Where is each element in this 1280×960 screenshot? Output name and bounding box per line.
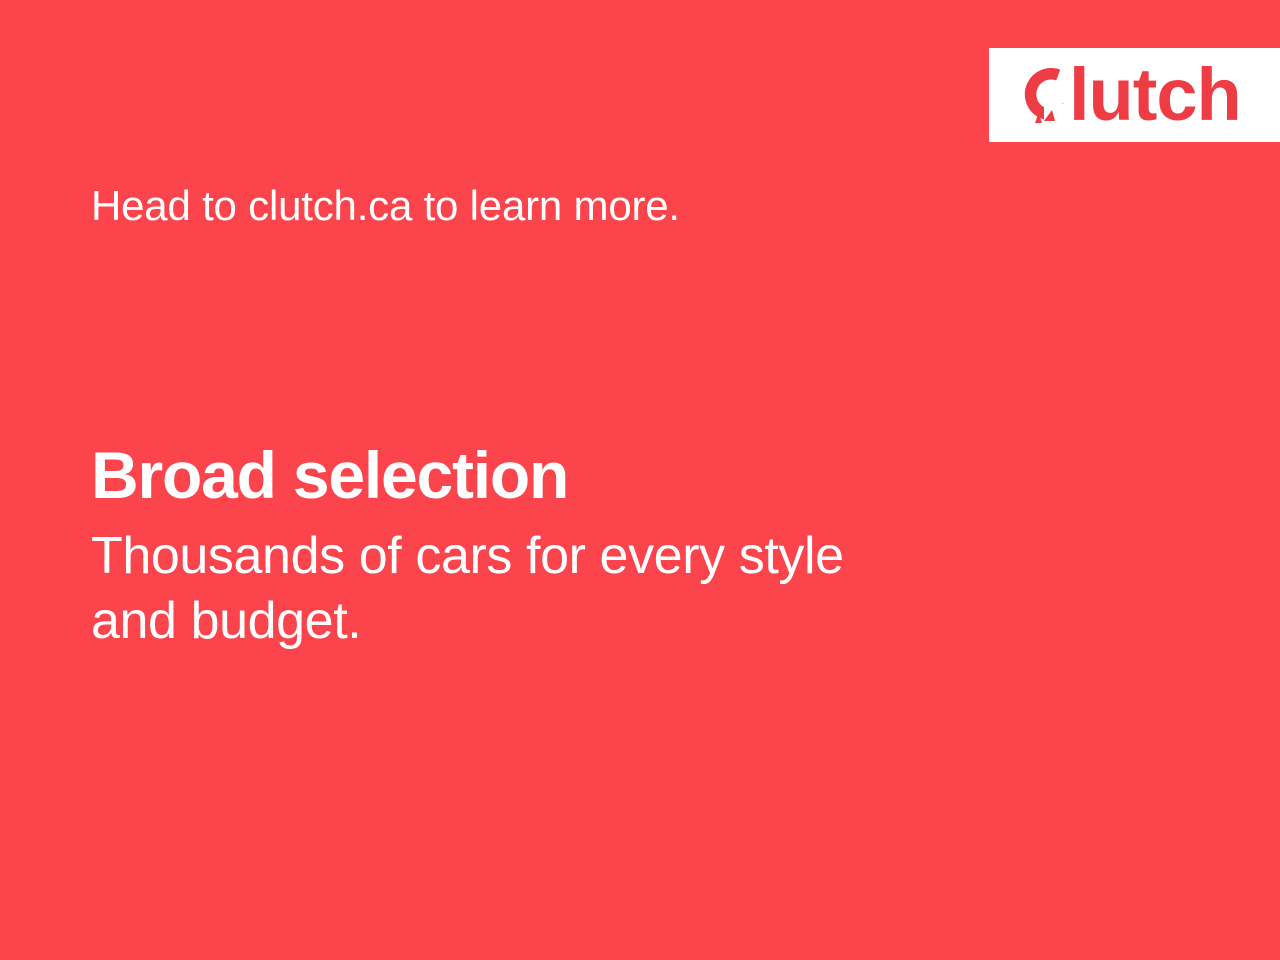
clutch-c-mark-icon [1022, 68, 1068, 124]
feature-description: Thousands of cars for every style and bu… [91, 524, 1021, 654]
clutch-wordmark: lutch [1069, 66, 1241, 124]
feature-description-line-1: Thousands of cars for every style [91, 524, 1021, 589]
clutch-logo-lockup: lutch [1022, 66, 1241, 124]
feature-block: Broad selection Thousands of cars for ev… [91, 441, 1051, 654]
clutch-logo-badge[interactable]: lutch [989, 48, 1280, 142]
feature-description-line-2: and budget. [91, 589, 1021, 654]
lede-text: Head to clutch.ca to learn more. [91, 182, 680, 230]
slide-canvas: lutch Head to clutch.ca to learn more. B… [0, 0, 1280, 960]
feature-title: Broad selection [91, 441, 1051, 510]
